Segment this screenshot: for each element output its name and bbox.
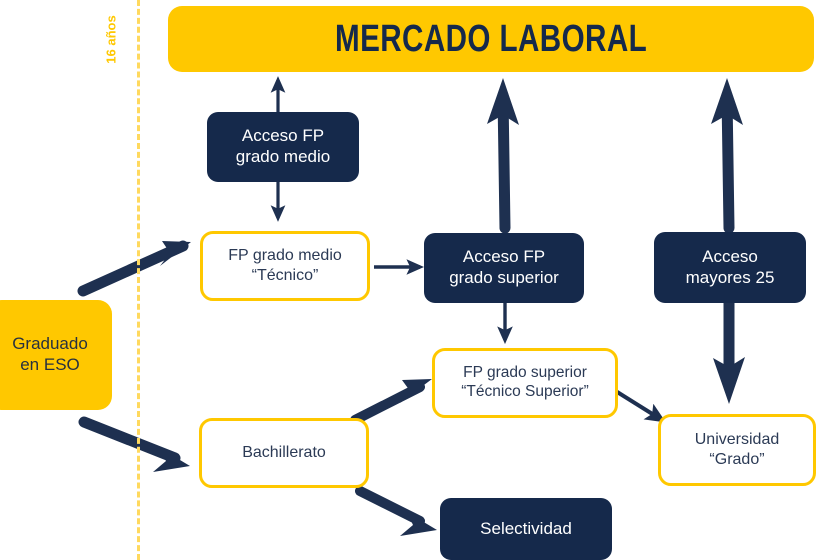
age-marker-16-anos: 16 años: [100, 8, 122, 78]
edge-acceso-fp-superior-to-mercado: [487, 78, 519, 228]
node-universidad[interactable]: Universidad “Grado”: [658, 414, 816, 486]
node-acceso-fp-grado-superior-line1: Acceso FP: [449, 247, 559, 268]
node-acceso-fp-grado-medio-line1: Acceso FP: [236, 126, 331, 147]
age-marker-label: 16 años: [104, 5, 119, 75]
edge-fp-superior-to-universidad: [614, 390, 662, 420]
age-divider-line: [137, 0, 140, 560]
edge-bachillerato-to-fp-superior: [355, 379, 432, 420]
node-acceso-mayores-25-line1: Acceso: [686, 247, 775, 268]
node-fp-grado-medio-line2: “Técnico”: [228, 266, 342, 286]
node-fp-grado-superior-line2: “Técnico Superior”: [461, 383, 589, 402]
education-pathway-diagram: 16 años MERCADO LABORAL: [0, 0, 840, 560]
node-selectividad[interactable]: Selectividad: [440, 498, 612, 560]
node-universidad-line2: “Grado”: [695, 450, 779, 470]
node-graduado-en-eso-line2: en ESO: [12, 355, 88, 376]
node-universidad-line1: Universidad: [695, 430, 779, 450]
node-bachillerato-label: Bachillerato: [242, 443, 326, 463]
node-acceso-mayores-25[interactable]: Acceso mayores 25: [654, 232, 806, 303]
node-fp-grado-superior-line1: FP grado superior: [461, 364, 589, 383]
node-acceso-fp-grado-superior[interactable]: Acceso FP grado superior: [424, 233, 584, 303]
edge-bachillerato-to-selectividad: [360, 491, 437, 536]
node-acceso-fp-grado-medio-line2: grado medio: [236, 147, 331, 168]
edge-acceso-mayores-25-to-mercado: [711, 78, 743, 228]
node-acceso-mayores-25-line2: mayores 25: [686, 268, 775, 289]
node-fp-grado-medio-line1: FP grado medio: [228, 246, 342, 266]
node-graduado-en-eso[interactable]: Graduado en ESO: [0, 300, 112, 410]
node-mercado-laboral-label: MERCADO LABORAL: [335, 18, 647, 61]
node-mercado-laboral[interactable]: MERCADO LABORAL: [168, 6, 814, 72]
node-acceso-fp-grado-medio[interactable]: Acceso FP grado medio: [207, 112, 359, 182]
node-acceso-fp-grado-superior-line2: grado superior: [449, 268, 559, 289]
node-fp-grado-superior[interactable]: FP grado superior “Técnico Superior”: [432, 348, 618, 418]
node-fp-grado-medio[interactable]: FP grado medio “Técnico”: [200, 231, 370, 301]
node-bachillerato[interactable]: Bachillerato: [199, 418, 369, 488]
edge-acceso-mayores-25-to-universidad: [713, 303, 745, 404]
node-graduado-en-eso-line1: Graduado: [12, 334, 88, 355]
node-selectividad-label: Selectividad: [480, 519, 572, 540]
